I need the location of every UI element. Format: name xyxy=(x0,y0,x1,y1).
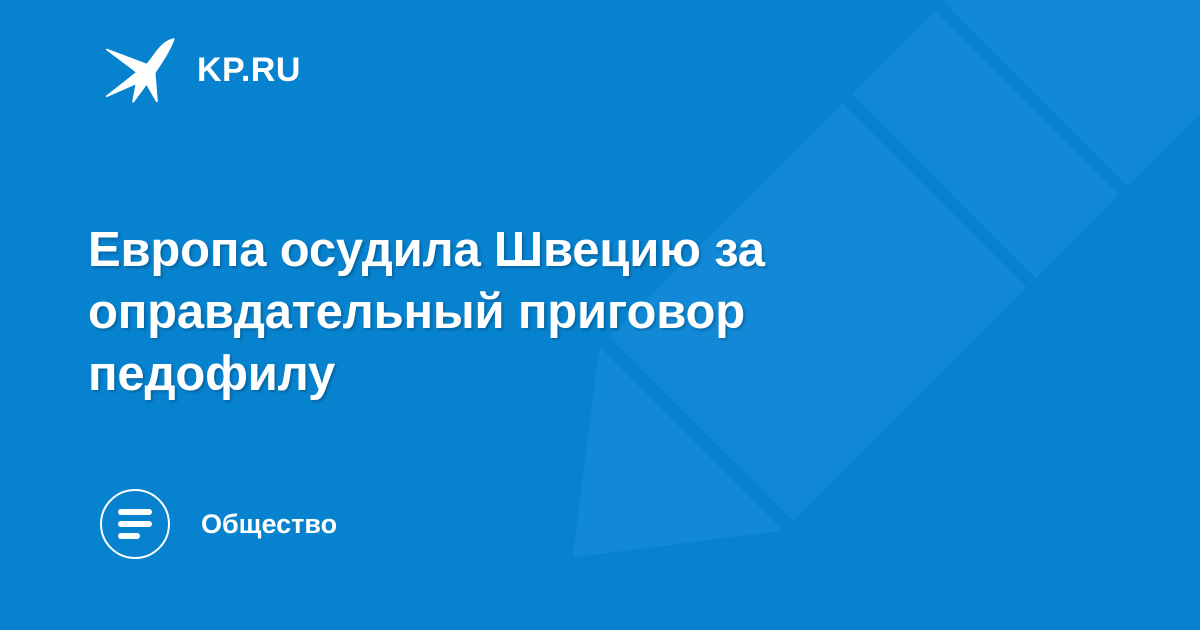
share-card: KP.RU Европа осудила Швецию за оправдате… xyxy=(0,0,1200,630)
logo-wordmark: KP.RU xyxy=(197,53,301,87)
hamburger-lines-icon xyxy=(100,489,170,559)
hamburger-line-3 xyxy=(118,533,140,539)
rubric-label: Общество xyxy=(201,511,337,538)
site-logo[interactable]: KP.RU xyxy=(103,36,301,104)
page-title: Европа осудила Швецию за оправдательный … xyxy=(88,219,988,405)
swallow-bird-icon xyxy=(103,36,179,104)
rubric[interactable]: Общество xyxy=(100,489,337,559)
hamburger-line-2 xyxy=(118,521,152,527)
hamburger-line-1 xyxy=(118,509,152,515)
